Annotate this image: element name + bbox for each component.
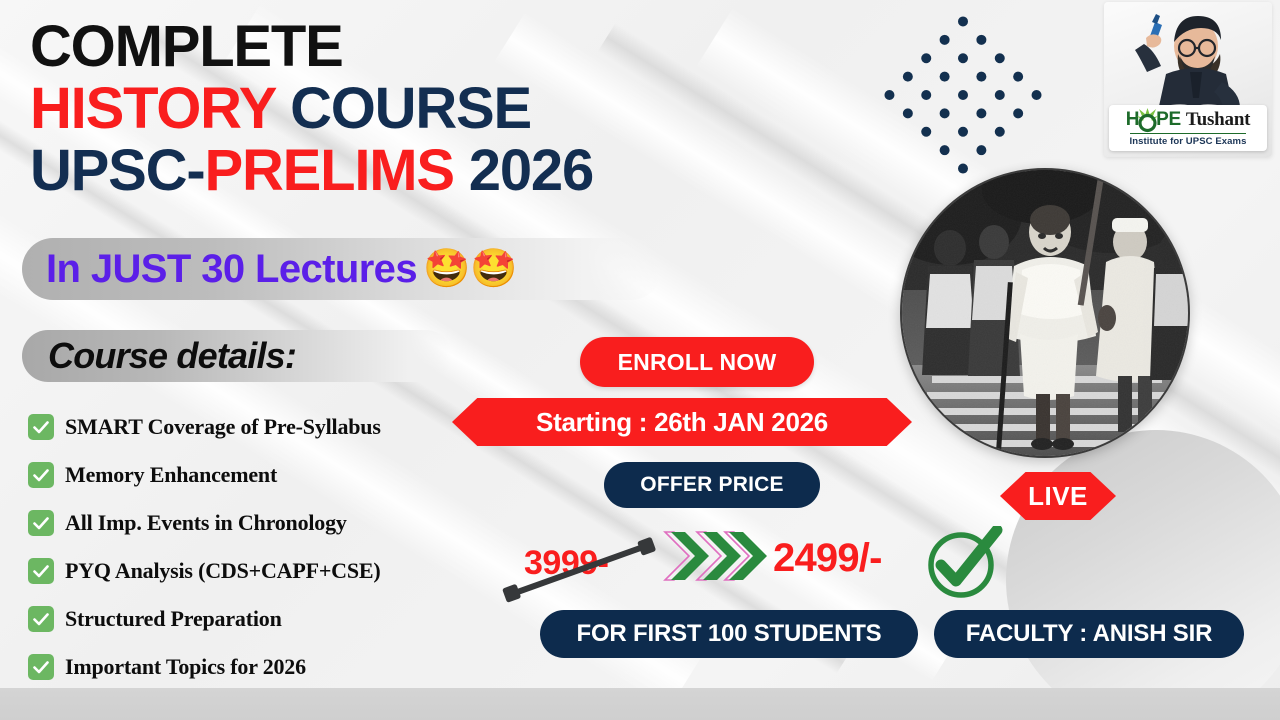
- course-details-heading: Course details:: [48, 335, 296, 377]
- list-item: All Imp. Events in Chronology: [28, 499, 498, 547]
- headline-line-3: UPSC-PRELIMS 2026: [30, 140, 770, 202]
- banner-stage: LIVE: [0, 0, 1280, 720]
- list-item: Important Topics for 2026: [28, 643, 498, 691]
- chevron-arrows-icon: [663, 530, 767, 582]
- faculty-label: FACULTY : ANISH SIR: [966, 620, 1212, 648]
- check-icon: [28, 606, 54, 632]
- headline-year: 2026: [454, 138, 593, 203]
- list-item: PYQ Analysis (CDS+CAPF+CSE): [28, 547, 498, 595]
- headline-line-2: HISTORY COURSE: [30, 78, 770, 140]
- lectures-highlight-pill: In JUST 30 Lectures 🤩🤩: [22, 238, 662, 300]
- list-item-label: Memory Enhancement: [65, 462, 277, 488]
- headline-prelims: PRELIMS: [204, 138, 453, 203]
- first-students-button: FOR FIRST 100 STUDENTS: [540, 610, 918, 658]
- starting-date-label: Starting : 26th JAN 2026: [536, 407, 828, 438]
- offer-price-label: OFFER PRICE: [640, 473, 783, 497]
- check-icon: [28, 414, 54, 440]
- live-badge-label: LIVE: [1028, 481, 1088, 512]
- check-icon: [28, 462, 54, 488]
- headline-complete: COMPLETE: [30, 14, 343, 79]
- lectures-label: In JUST 30 Lectures: [46, 247, 417, 292]
- list-item: Memory Enhancement: [28, 451, 498, 499]
- logo-tagline: Institute for UPSC Exams: [1130, 133, 1247, 147]
- logo-name: Tushant: [1186, 109, 1250, 131]
- offer-price-button: OFFER PRICE: [604, 462, 820, 508]
- page-title: COMPLETE HISTORY COURSE UPSC-PRELIMS 202…: [30, 16, 770, 202]
- list-item: Structured Preparation: [28, 595, 498, 643]
- strikethrough-icon: [496, 532, 666, 604]
- dandi-march-photo: [900, 168, 1190, 458]
- logo-wordmark: H PE Tushant: [1126, 109, 1251, 131]
- star-struck-emoji: 🤩🤩: [423, 250, 518, 288]
- check-icon: [28, 654, 54, 680]
- enroll-now-button[interactable]: ENROLL NOW: [580, 337, 814, 387]
- headline-line-1: COMPLETE: [30, 16, 770, 78]
- list-item-label: Important Topics for 2026: [65, 654, 306, 680]
- old-price-group: 3999-: [524, 544, 608, 583]
- enroll-now-label: ENROLL NOW: [618, 349, 777, 376]
- check-icon: [28, 558, 54, 584]
- logo-sunburst-o: [1139, 111, 1156, 130]
- bottom-strip: [0, 688, 1280, 720]
- faculty-button: FACULTY : ANISH SIR: [934, 610, 1244, 658]
- green-check-circle-icon: [925, 526, 1003, 600]
- dot-grid-decoration: [871, 3, 1055, 187]
- course-details-heading-pill: Course details:: [22, 330, 452, 382]
- list-item-label: Structured Preparation: [65, 606, 282, 632]
- list-item-label: PYQ Analysis (CDS+CAPF+CSE): [65, 558, 380, 584]
- price-row: 3999- 2499/-: [498, 524, 1018, 590]
- check-icon: [28, 510, 54, 536]
- logo-letters-pe: PE: [1156, 109, 1181, 131]
- list-item: SMART Coverage of Pre-Syllabus: [28, 403, 498, 451]
- new-price: 2499/-: [773, 536, 882, 581]
- first-students-label: FOR FIRST 100 STUDENTS: [577, 620, 882, 648]
- starting-date-banner: Starting : 26th JAN 2026: [452, 398, 912, 446]
- headline-course: COURSE: [275, 76, 531, 141]
- headline-history: HISTORY: [30, 76, 275, 141]
- brand-logo[interactable]: H PE Tushant Inst: [1104, 2, 1272, 157]
- logo-wordmark-plate: H PE Tushant Inst: [1109, 105, 1267, 151]
- course-features-list: SMART Coverage of Pre-Syllabus Memory En…: [28, 403, 498, 691]
- headline-upsc: UPSC-: [30, 138, 204, 203]
- list-item-label: SMART Coverage of Pre-Syllabus: [65, 414, 381, 440]
- list-item-label: All Imp. Events in Chronology: [65, 510, 347, 536]
